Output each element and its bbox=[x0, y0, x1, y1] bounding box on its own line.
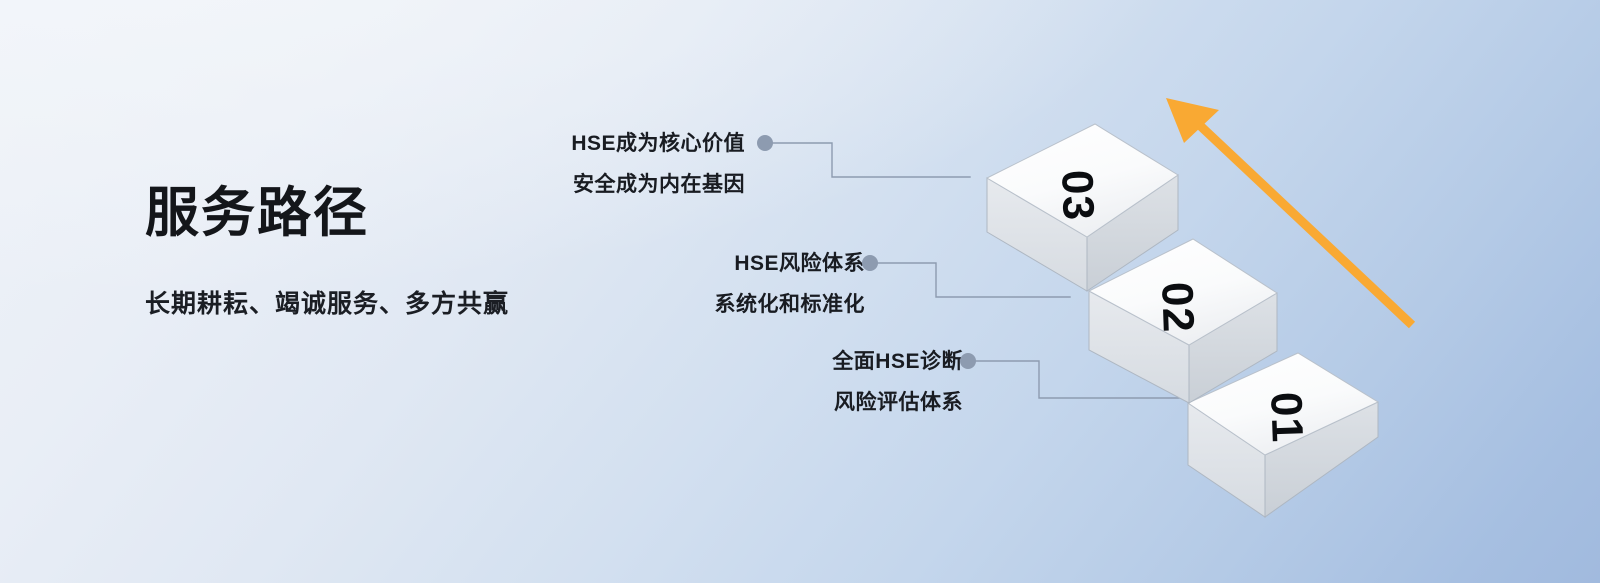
connector-dots bbox=[757, 135, 976, 369]
connector-dot-02 bbox=[862, 255, 878, 271]
connector-dot-01 bbox=[960, 353, 976, 369]
isometric-staircase-graphic: 01 02 03 bbox=[0, 0, 1600, 583]
connector-line-03 bbox=[772, 143, 970, 177]
step-number-03: 03 bbox=[1052, 169, 1103, 222]
step-number-01: 01 bbox=[1261, 391, 1312, 444]
step-number-02: 02 bbox=[1152, 281, 1203, 334]
connector-line-02 bbox=[877, 263, 1070, 297]
slide-canvas: 服务路径 长期耕耘、竭诚服务、多方共赢 HSE成为核心价值 安全成为内在基因 H… bbox=[0, 0, 1600, 583]
connector-dot-03 bbox=[757, 135, 773, 151]
